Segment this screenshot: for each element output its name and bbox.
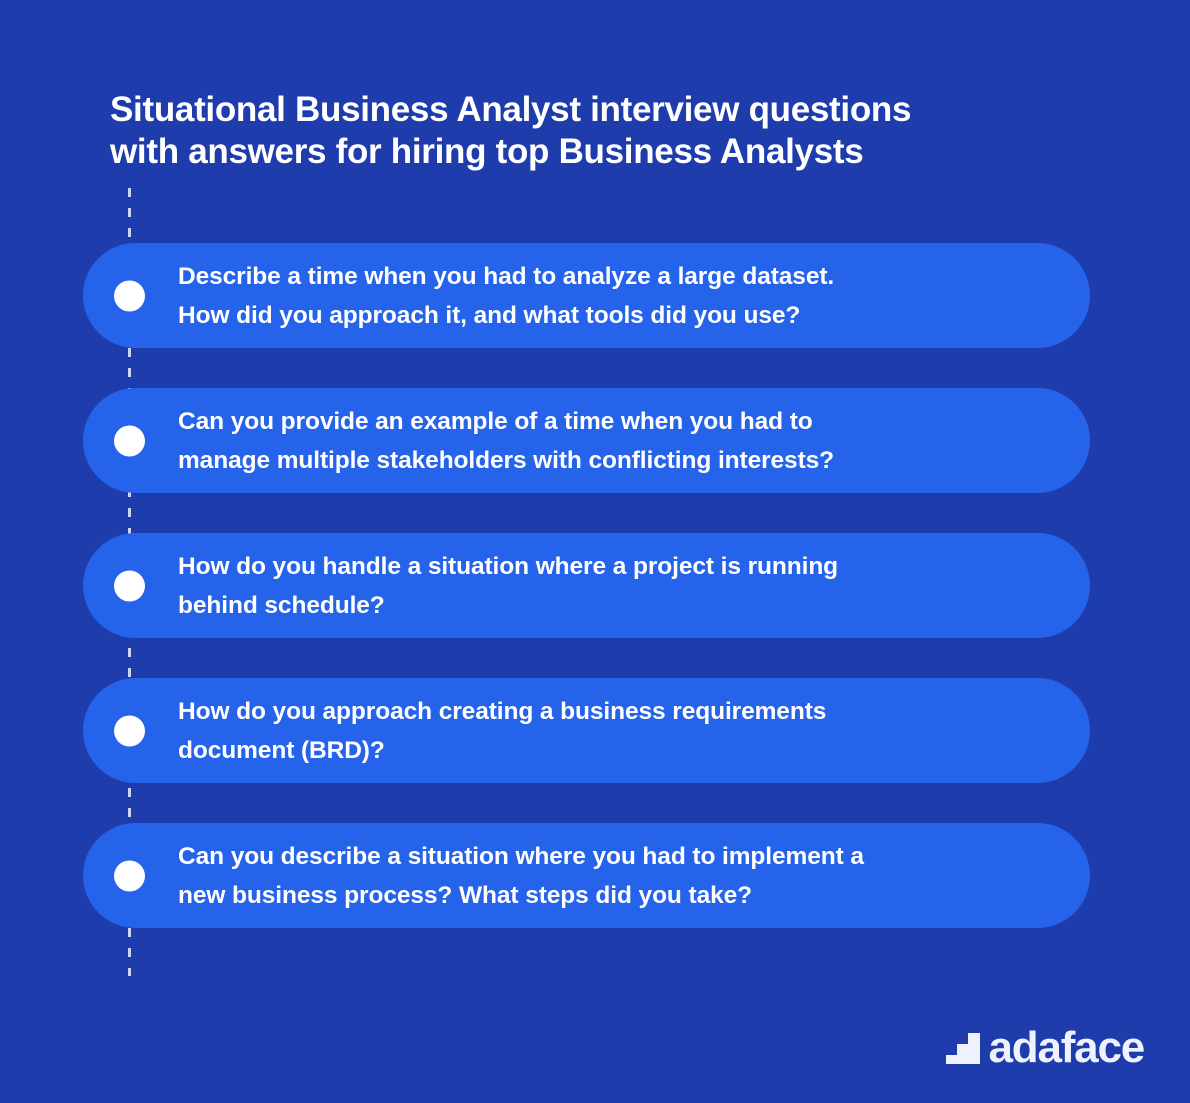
question-card-3-line-2: behind schedule?: [178, 586, 838, 625]
circle-bullet-icon: [114, 715, 145, 746]
question-card-2-text: Can you provide an example of a time whe…: [178, 402, 834, 480]
question-card-5-line-2: new business process? What steps did you…: [178, 876, 864, 915]
circle-bullet-icon: [114, 425, 145, 456]
question-card-1-line-1: Describe a time when you had to analyze …: [178, 257, 834, 296]
circle-bullet-icon: [114, 860, 145, 891]
question-list: Describe a time when you had to analyze …: [83, 243, 1090, 928]
page-title-line-1: Situational Business Analyst interview q…: [110, 89, 1100, 131]
question-card-2[interactable]: Can you provide an example of a time whe…: [83, 388, 1090, 493]
adaface-logo[interactable]: adaface: [946, 1026, 1144, 1070]
question-card-1-line-2: How did you approach it, and what tools …: [178, 296, 834, 335]
question-card-4[interactable]: How do you approach creating a business …: [83, 678, 1090, 783]
page-title-line-2: with answers for hiring top Business Ana…: [110, 131, 1100, 173]
adaface-wordmark: adaface: [989, 1026, 1144, 1070]
question-card-5-line-1: Can you describe a situation where you h…: [178, 837, 864, 876]
question-card-5-text: Can you describe a situation where you h…: [178, 837, 864, 915]
question-card-5[interactable]: Can you describe a situation where you h…: [83, 823, 1090, 928]
question-card-4-text: How do you approach creating a business …: [178, 692, 826, 770]
question-card-1-text: Describe a time when you had to analyze …: [178, 257, 834, 335]
question-card-4-line-2: document (BRD)?: [178, 731, 826, 770]
question-card-4-line-1: How do you approach creating a business …: [178, 692, 826, 731]
poster-canvas: Situational Business Analyst interview q…: [0, 0, 1190, 1103]
adaface-bars-logo-icon: [946, 1033, 980, 1064]
page-title: Situational Business Analyst interview q…: [110, 89, 1100, 173]
question-card-3-text: How do you handle a situation where a pr…: [178, 547, 838, 625]
question-card-2-line-2: manage multiple stakeholders with confli…: [178, 441, 834, 480]
circle-bullet-icon: [114, 570, 145, 601]
question-card-2-line-1: Can you provide an example of a time whe…: [178, 402, 834, 441]
question-card-1[interactable]: Describe a time when you had to analyze …: [83, 243, 1090, 348]
question-card-3[interactable]: How do you handle a situation where a pr…: [83, 533, 1090, 638]
question-card-3-line-1: How do you handle a situation where a pr…: [178, 547, 838, 586]
circle-bullet-icon: [114, 280, 145, 311]
